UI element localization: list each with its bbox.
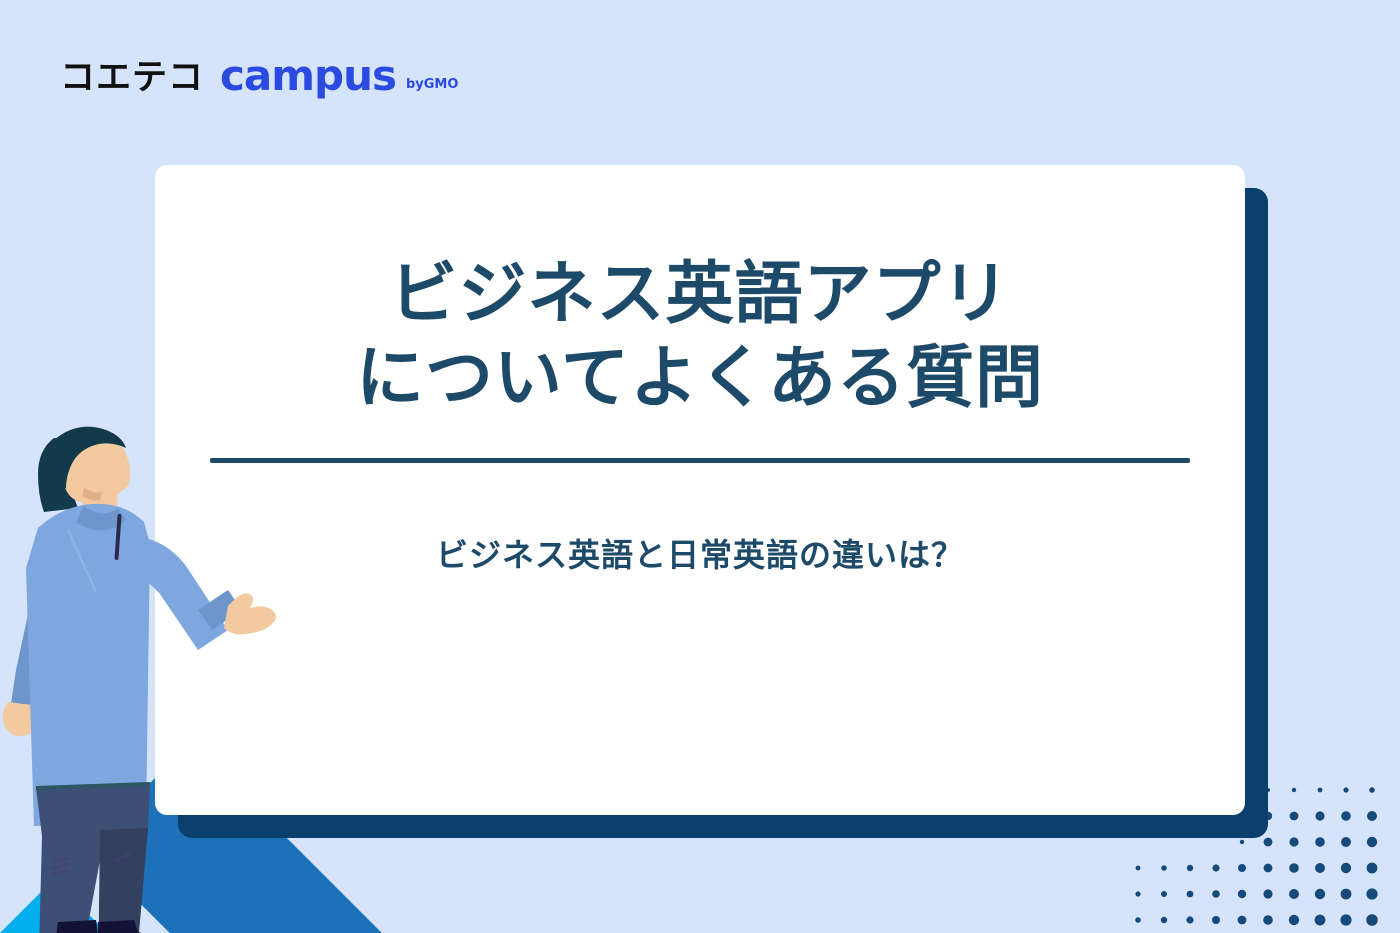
page-title: ビジネス英語アプリ についてよくある質問	[200, 253, 1200, 420]
logo-koeteko-text: コエテコ	[60, 61, 204, 96]
page-title-line-2: についてよくある質問	[200, 337, 1200, 421]
person-pointing-illustration	[0, 410, 282, 933]
site-logo[interactable]: コエテコ campus byGMO	[60, 56, 458, 96]
logo-bygmo-text: byGMO	[406, 78, 458, 91]
title-divider	[210, 458, 1190, 463]
faq-card: ビジネス英語アプリ についてよくある質問 ビジネス英語と日常英語の違いは？	[155, 165, 1245, 815]
question-subtitle: ビジネス英語と日常英語の違いは？	[200, 533, 1200, 578]
logo-campus-text: campus	[220, 56, 396, 96]
page-title-line-1: ビジネス英語アプリ	[200, 253, 1200, 337]
